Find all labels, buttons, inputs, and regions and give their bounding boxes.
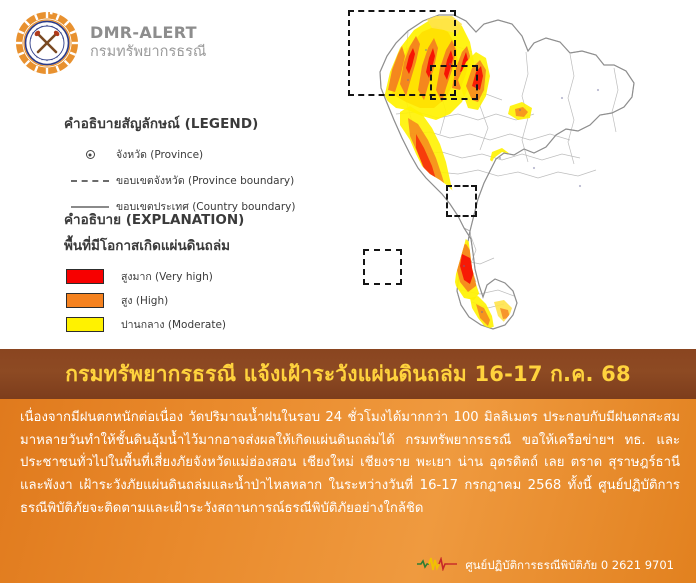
thailand-landslide-risk-map [330, 2, 696, 346]
south-region-box [363, 249, 402, 285]
footer: ศูนย์ปฏิบัติการธรณีพิบัติภัย 0 2621 9701 [0, 556, 696, 575]
dmr-gear-logo [14, 10, 80, 76]
color-swatch-moderate [66, 317, 104, 332]
east-region-box [446, 185, 477, 217]
central-region-box [430, 65, 478, 100]
alert-paragraph: เนื่องจากมีฝนตกหนักต่อเนื่อง วัดปริมาณน้… [20, 407, 680, 521]
province-point-icon [64, 149, 116, 161]
alert-banner: กรมทรัพยากรธรณี แจ้งเฝ้าระวังแผ่นดินถล่ม… [0, 349, 696, 399]
explanation-subheading: พื้นที่มีโอกาสเกิดแผ่นดินถล่ม [64, 234, 364, 256]
footer-contact: ศูนย์ปฏิบัติการธรณีพิบัติภัย 0 2621 9701 [465, 557, 674, 575]
legend-item-province-boundary: ขอบเขตจังหวัด (Province boundary) [64, 172, 354, 189]
explanation-heading: คำอธิบาย (EXPLANATION) [64, 208, 364, 230]
risk-class-label: ปานกลาง (Moderate) [121, 316, 226, 333]
seismograph-wave-icon [417, 556, 457, 575]
legend-item-province: จังหวัด (Province) [64, 146, 354, 163]
brand-subtitle: กรมทรัพยากรธรณี [90, 43, 206, 61]
risk-class-moderate: ปานกลาง (Moderate) [64, 316, 364, 333]
risk-class-very-high: สูงมาก (Very high) [64, 268, 364, 285]
risk-class-label: สูง (High) [121, 292, 168, 309]
alert-infographic: DMR-ALERT กรมทรัพยากรธรณี คำอธิบายสัญลัก… [0, 0, 696, 583]
legend-heading: คำอธิบายสัญลักษณ์ (LEGEND) [64, 112, 354, 134]
risk-class-high: สูง (High) [64, 292, 364, 309]
explanation: คำอธิบาย (EXPLANATION) พื้นที่มีโอกาสเกิ… [64, 208, 364, 340]
color-swatch-high [66, 293, 104, 308]
banner-title: กรมทรัพยากรธรณี แจ้งเฝ้าระวังแผ่นดินถล่ม… [65, 358, 631, 391]
brand-text: DMR-ALERT กรมทรัพยากรธรณี [90, 25, 206, 61]
dashed-line-icon [64, 175, 116, 187]
legend-item-label: จังหวัด (Province) [116, 146, 203, 163]
legend-item-label: ขอบเขตจังหวัด (Province boundary) [116, 172, 294, 189]
header: DMR-ALERT กรมทรัพยากรธรณี [14, 10, 206, 76]
body-panel: เนื่องจากมีฝนตกหนักต่อเนื่อง วัดปริมาณน้… [0, 399, 696, 583]
color-swatch-very-high [66, 269, 104, 284]
brand-title: DMR-ALERT [90, 25, 206, 42]
risk-class-label: สูงมาก (Very high) [121, 268, 213, 285]
